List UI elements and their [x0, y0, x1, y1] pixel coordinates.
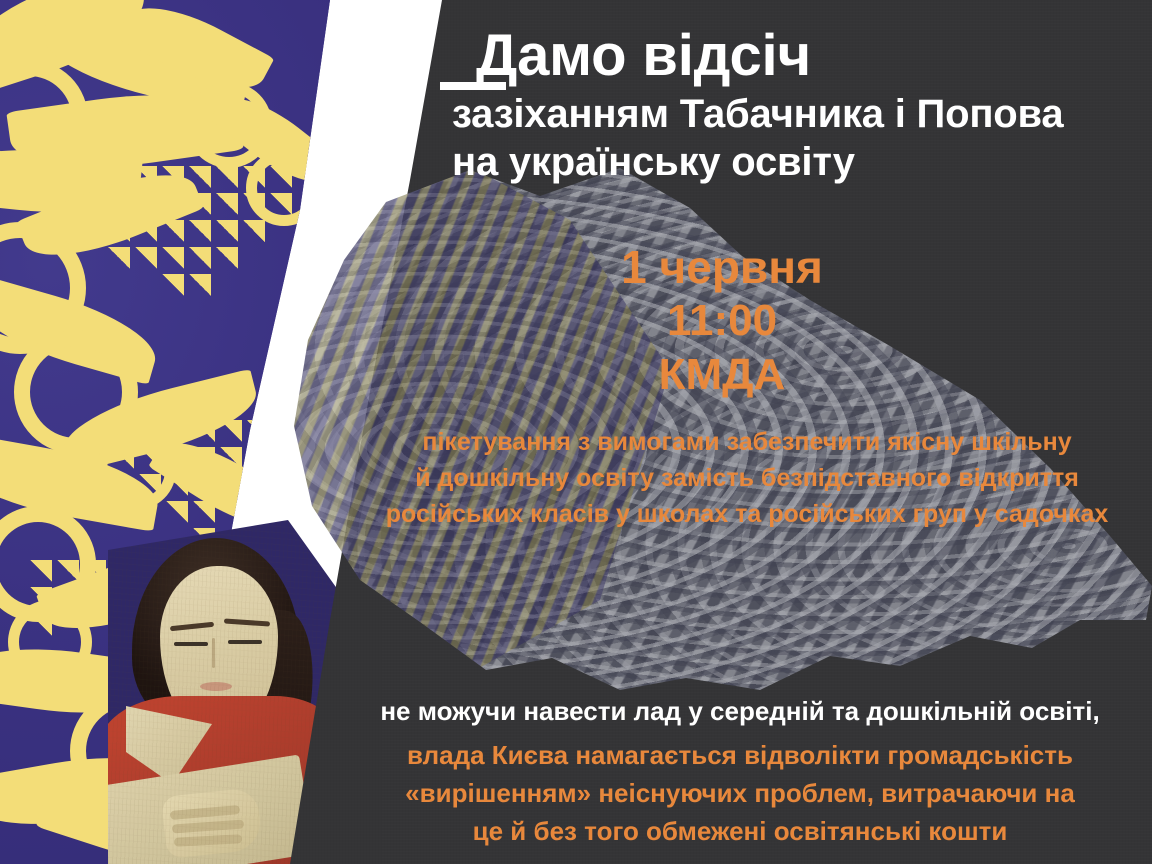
body-bottom-line-1: не можучи навести лад у середній та дошк… — [332, 692, 1148, 730]
headline-block: Дамо відсіч зазіханням Табачника і Попов… — [452, 22, 1142, 186]
event-details-block: 1 червня 11:00 КМДА — [442, 240, 1002, 402]
body-paragraph-middle: пікетування з вимогами забезпечити якісн… — [352, 424, 1142, 532]
event-date: 1 червня — [442, 240, 1002, 294]
event-time: 11:00 — [442, 294, 1002, 348]
body-mid-line-1: пікетування з вимогами забезпечити якісн… — [352, 424, 1142, 460]
event-place: КМДА — [442, 348, 1002, 402]
headline-line-3: на українську освіту — [452, 138, 1142, 186]
body-bottom-line-4: це й без того обмежені освітянські кошти — [332, 812, 1148, 850]
poster-canvas: Дамо відсіч зазіханням Табачника і Попов… — [0, 0, 1152, 864]
body-mid-line-3: російських класів у школах та російських… — [352, 496, 1142, 532]
body-bottom-line-3: «вирішенням» неіснуючих проблем, витрача… — [332, 774, 1148, 812]
headline-line-1: Дамо відсіч — [476, 22, 1142, 90]
body-bottom-line-2: влада Києва намагається відволікти грома… — [332, 736, 1148, 774]
body-mid-line-2: й дошкільну освіту замість безпідставног… — [352, 460, 1142, 496]
body-paragraph-bottom: не можучи навести лад у середній та дошк… — [332, 692, 1148, 850]
headline-line-2: зазіханням Табачника і Попова — [452, 90, 1142, 138]
